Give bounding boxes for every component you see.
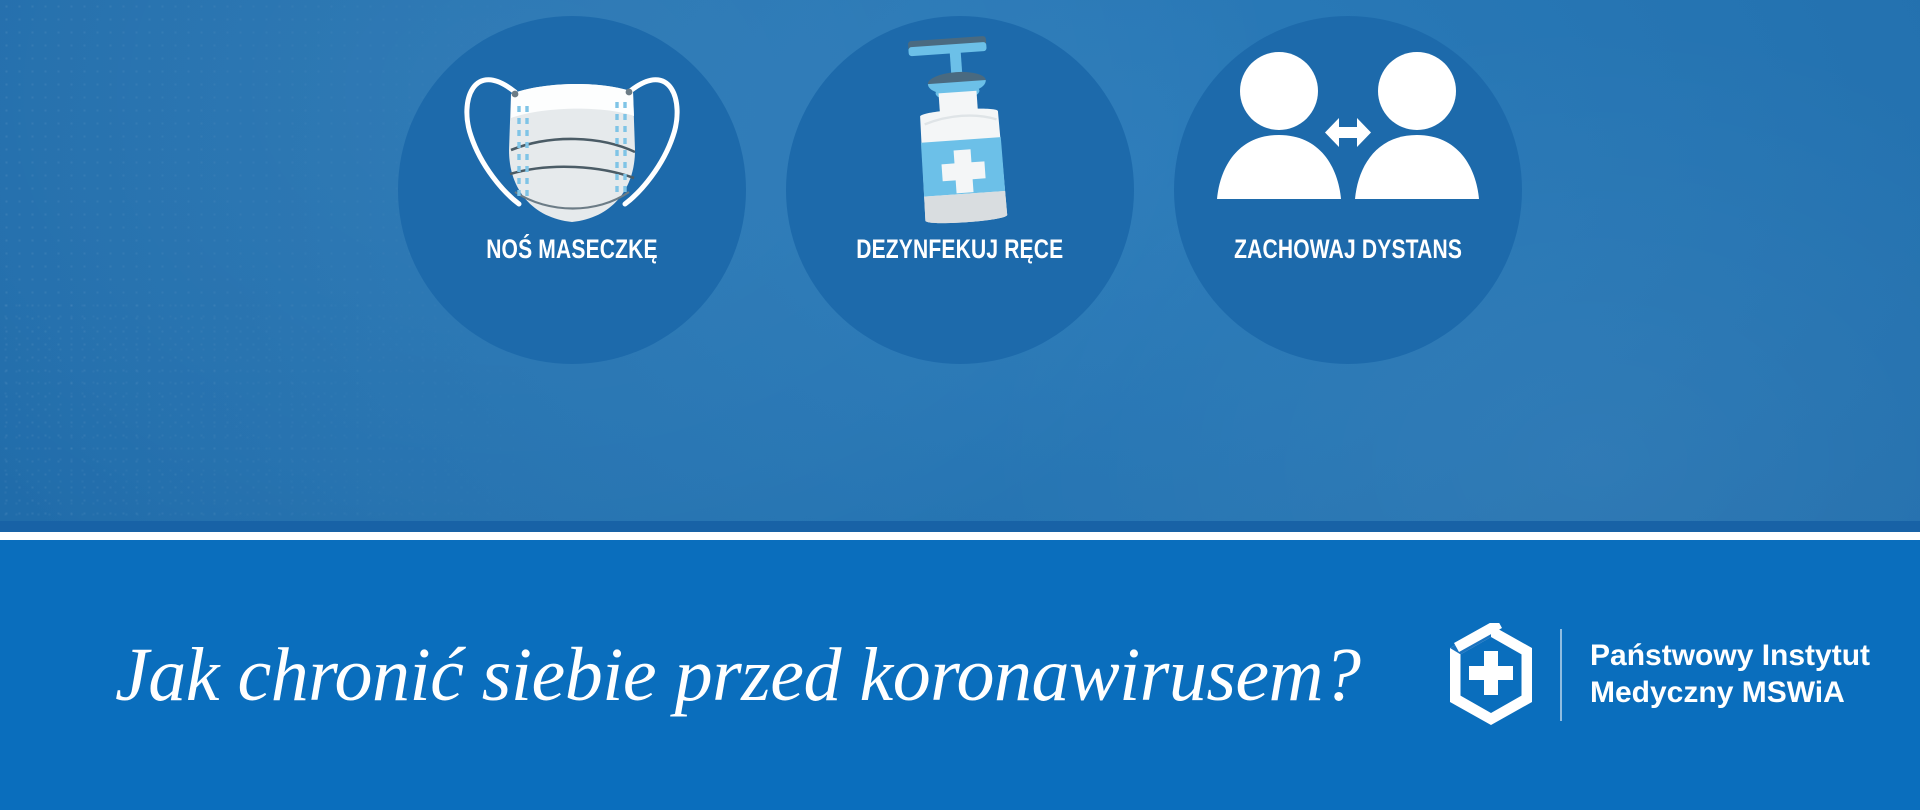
social-distance-two-people-icon xyxy=(1174,16,1522,234)
poster-root: NOŚ MASECZKĘ xyxy=(0,0,1920,810)
prevention-card-label: NOŚ MASECZKĘ xyxy=(486,234,658,265)
top-panel: NOŚ MASECZKĘ xyxy=(0,0,1920,532)
brand-name-line-2: Medyczny MSWiA xyxy=(1590,675,1870,712)
surgical-mask-icon xyxy=(398,16,746,234)
hand-sanitizer-bottle-icon xyxy=(786,16,1134,234)
prevention-card-mask[interactable]: NOŚ MASECZKĘ xyxy=(398,16,746,364)
prevention-card-label: ZACHOWAJ DYSTANS xyxy=(1234,234,1462,265)
brand-name: Państwowy Instytut Medyczny MSWiA xyxy=(1590,638,1870,711)
divider-dark-strip xyxy=(0,521,1920,532)
brand-name-line-1: Państwowy Instytut xyxy=(1590,638,1870,675)
prevention-card-label: DEZYNFEKUJ RĘCE xyxy=(856,234,1063,265)
prevention-card-distance[interactable]: ZACHOWAJ DYSTANS xyxy=(1174,16,1522,364)
prevention-card-sanitizer[interactable]: DEZYNFEKUJ RĘCE xyxy=(786,16,1134,364)
divider-white-rule xyxy=(0,532,1920,540)
prevention-circles-row: NOŚ MASECZKĘ xyxy=(0,0,1920,532)
brand-divider-rule xyxy=(1560,629,1562,721)
hexagon-shield-medical-cross-logo xyxy=(1448,623,1534,727)
brand-lockup[interactable]: Państwowy Instytut Medyczny MSWiA xyxy=(1448,623,1870,727)
headline-text: Jak chronić siebie przed koronawirusem? xyxy=(115,637,1361,713)
bottom-bar: Jak chronić siebie przed koronawirusem? … xyxy=(0,540,1920,810)
